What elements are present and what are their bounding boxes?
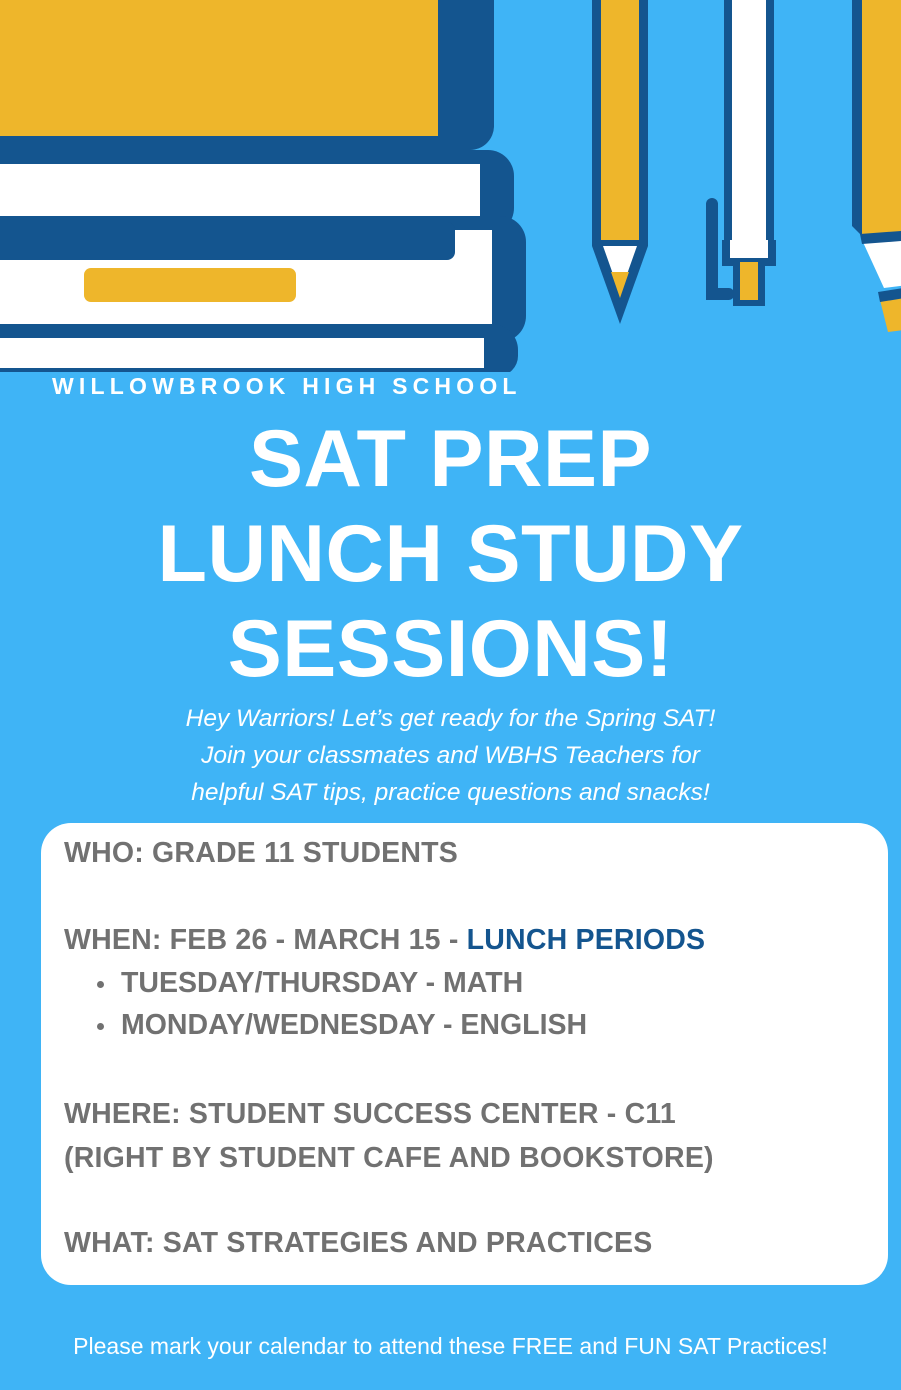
- schedule-list: TUESDAY/THURSDAY - MATH MONDAY/WEDNESDAY…: [64, 962, 876, 1046]
- school-supplies-illustration: .nv { fill:#14558f; } .yl { fill:#eeb62b…: [0, 0, 901, 372]
- title-line-3: SESSIONS!: [0, 602, 901, 697]
- title-line-2: LUNCH STUDY: [0, 507, 901, 602]
- spacer-where-what: [64, 1180, 876, 1221]
- when-line: WHEN: FEB 26 - MARCH 15 - LUNCH PERIODS: [64, 918, 876, 962]
- list-item: TUESDAY/THURSDAY - MATH: [64, 962, 876, 1004]
- title-line-1: SAT PREP: [0, 412, 901, 507]
- pencil-tilted-icon: [852, 0, 901, 332]
- schedule-item-label: TUESDAY/THURSDAY - MATH: [121, 967, 523, 999]
- book-stack-icon: [0, 0, 526, 372]
- schedule-item-label: MONDAY/WEDNESDAY - ENGLISH: [121, 1009, 587, 1041]
- bullet-dot-icon: [97, 981, 104, 988]
- who-line: WHO: GRADE 11 STUDENTS: [64, 831, 876, 875]
- subtitle-line-3: helpful SAT tips, practice questions and…: [0, 774, 901, 811]
- school-name: WILLOWBROOK HIGH SCHOOL: [52, 375, 522, 398]
- subtitle-line-2: Join your classmates and WBHS Teachers f…: [0, 737, 901, 774]
- details-card-content: WHO: GRADE 11 STUDENTS WHEN: FEB 26 - MA…: [64, 831, 876, 1265]
- page-title: SAT PREP LUNCH STUDY SESSIONS!: [0, 412, 901, 697]
- subtitle: Hey Warriors! Let’s get ready for the Sp…: [0, 700, 901, 811]
- subtitle-line-1: Hey Warriors! Let’s get ready for the Sp…: [0, 700, 901, 737]
- pen-with-clip-icon: [706, 0, 776, 306]
- where-line-1: WHERE: STUDENT SUCCESS CENTER - C11: [64, 1092, 876, 1136]
- details-card: WHO: GRADE 11 STUDENTS WHEN: FEB 26 - MA…: [41, 823, 888, 1285]
- spacer-when-where: [64, 1046, 876, 1092]
- spacer-who-when: [64, 875, 876, 918]
- list-item: MONDAY/WEDNESDAY - ENGLISH: [64, 1004, 876, 1046]
- when-highlight: LUNCH PERIODS: [467, 924, 706, 956]
- when-prefix: WHEN: FEB 26 - MARCH 15 -: [64, 924, 467, 956]
- bullet-dot-icon: [97, 1023, 104, 1030]
- footer-note: Please mark your calendar to attend thes…: [0, 1331, 901, 1361]
- pencil-vertical-icon: [592, 0, 648, 324]
- where-line-2: (RIGHT BY STUDENT CAFE AND BOOKSTORE): [64, 1136, 876, 1180]
- what-line: WHAT: SAT STRATEGIES AND PRACTICES: [64, 1221, 876, 1265]
- poster: .nv { fill:#14558f; } .yl { fill:#eeb62b…: [0, 0, 901, 1390]
